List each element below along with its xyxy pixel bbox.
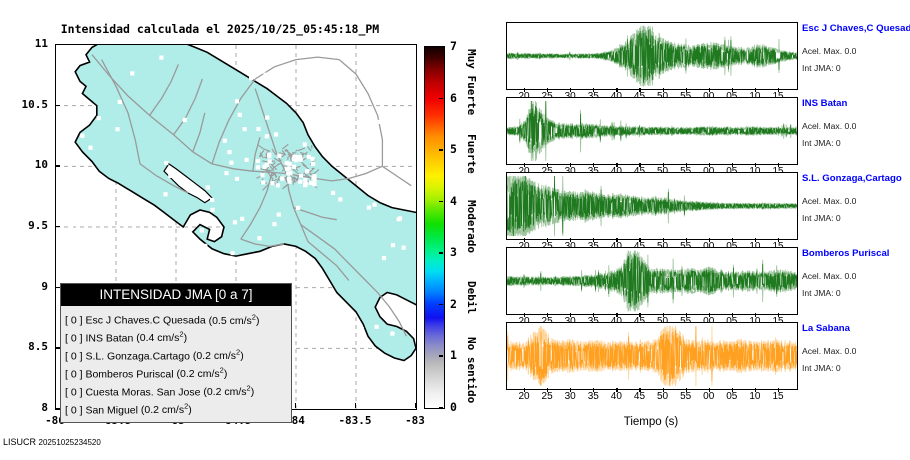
time-tick-mark <box>709 238 710 242</box>
time-tick-mark <box>732 388 733 392</box>
time-tick-mark <box>686 313 687 317</box>
station-title: Esc J Chaves,C Quesada <box>802 23 910 34</box>
legend-row: [ 0 ] S.L. Gonzaga.Cartago (0.2 cm/s2) <box>65 346 291 364</box>
time-tick-mark <box>547 313 548 317</box>
legend-intensity: [ 0 ] <box>65 368 83 380</box>
time-tick-label: 10 <box>742 391 768 402</box>
colorbar-number: 2 <box>450 297 457 311</box>
legend-accel: (0.5 cm/s2) <box>209 315 260 327</box>
legend-station-name: Cuesta Moras. San Jose <box>85 386 200 398</box>
colorbar-number: 5 <box>450 142 457 156</box>
time-tick-mark <box>524 88 525 92</box>
time-tick-mark <box>593 238 594 242</box>
lat-tick-label: 8 <box>2 401 48 414</box>
time-tick-mark <box>547 388 548 392</box>
legend-title: INTENSIDAD JMA [0 a 7] <box>61 284 291 306</box>
time-tick-mark <box>732 238 733 242</box>
station-max-accel: Acel. Max. 0.0 <box>802 46 856 56</box>
colorbar-tick <box>439 201 443 202</box>
station-jma-intensity: Int JMA: 0 <box>802 63 841 73</box>
colorbar-tick <box>439 407 443 408</box>
time-tick-mark <box>524 388 525 392</box>
station-title: Bomberos Puriscal <box>802 248 889 259</box>
time-tick-mark <box>686 238 687 242</box>
station-max-accel: Acel. Max. 0.0 <box>802 121 856 131</box>
station-jma-intensity: Int JMA: 0 <box>802 213 841 223</box>
colorbar-number: 4 <box>450 194 457 208</box>
colorbar-number: 6 <box>450 91 457 105</box>
seismogram-trace-4[interactable] <box>506 247 798 315</box>
legend-intensity: [ 0 ] <box>65 315 83 327</box>
time-tick-label: 40 <box>603 391 629 402</box>
time-tick-mark <box>778 88 779 92</box>
time-tick-mark <box>709 163 710 167</box>
time-tick-mark <box>639 163 640 167</box>
seismogram-trace-1[interactable] <box>506 22 798 90</box>
time-tick-mark <box>755 238 756 242</box>
time-tick-mark <box>732 313 733 317</box>
waveform-graphic <box>507 98 797 164</box>
lon-tick-label: -83 <box>385 414 445 427</box>
time-tick-label: 50 <box>650 391 676 402</box>
legend-intensity: [ 0 ] <box>65 404 83 416</box>
station-max-accel: Acel. Max. 0.0 <box>802 346 856 356</box>
colorbar-tick <box>439 304 443 305</box>
time-tick-mark <box>709 388 710 392</box>
time-tick-mark <box>639 88 640 92</box>
lon-tick-mark <box>415 403 416 408</box>
station-title: INS Batan <box>802 98 847 109</box>
time-tick-mark <box>570 88 571 92</box>
time-tick-mark <box>663 238 664 242</box>
colorbar-number: 1 <box>450 348 457 362</box>
time-tick-mark <box>639 313 640 317</box>
time-tick-mark <box>570 238 571 242</box>
time-tick-mark <box>593 163 594 167</box>
waveform-graphic <box>507 173 797 239</box>
legend-station-name: Esc J Chaves.C Quesada <box>85 315 205 327</box>
colorbar-tick <box>439 252 443 253</box>
time-tick-label: 00 <box>696 391 722 402</box>
lon-tick-label: -83.5 <box>325 414 385 427</box>
lat-tick-mark <box>55 44 60 45</box>
time-tick-mark <box>663 313 664 317</box>
intensity-legend: INTENSIDAD JMA [0 a 7] [ 0 ] Esc J Chave… <box>60 283 292 423</box>
station-title: S.L. Gonzaga,Cartago <box>802 173 902 184</box>
time-tick-mark <box>524 163 525 167</box>
time-tick-label: 30 <box>557 391 583 402</box>
time-tick-mark <box>686 388 687 392</box>
lat-tick-label: 10.5 <box>2 98 48 111</box>
lat-tick-mark <box>55 226 60 227</box>
lon-tick-mark <box>355 403 356 408</box>
station-jma-intensity: Int JMA: 0 <box>802 138 841 148</box>
station-jma-intensity: Int JMA: 0 <box>802 363 841 373</box>
colorbar-number: 7 <box>450 39 457 53</box>
time-tick-mark <box>755 388 756 392</box>
legend-station-name: San Miguel <box>85 404 138 416</box>
legend-accel: (0.2 cm/s2) <box>176 368 227 380</box>
station-max-accel: Acel. Max. 0.0 <box>802 196 856 206</box>
legend-row: [ 0 ] Bomberos Puriscal (0.2 cm/s2) <box>65 364 291 382</box>
time-tick-mark <box>778 388 779 392</box>
legend-row: [ 0 ] Esc J Chaves.C Quesada (0.5 cm/s2) <box>65 310 291 328</box>
time-tick-mark <box>547 238 548 242</box>
colorbar-tick <box>439 355 443 356</box>
time-tick-mark <box>593 313 594 317</box>
colorbar-category: No sentido <box>465 334 478 407</box>
legend-station-name: S.L. Gonzaga.Cartago <box>85 350 189 362</box>
station-title: La Sabana <box>802 323 850 334</box>
time-tick-mark <box>616 88 617 92</box>
station-jma-intensity: Int JMA: 0 <box>802 288 841 298</box>
time-tick-mark <box>616 163 617 167</box>
legend-station-name: Bomberos Puriscal <box>85 368 173 380</box>
time-tick-mark <box>524 313 525 317</box>
time-tick-mark <box>778 238 779 242</box>
waveform-graphic <box>507 323 797 389</box>
time-tick-mark <box>778 163 779 167</box>
time-tick-mark <box>778 313 779 317</box>
legend-row: [ 0 ] San Miguel (0.2 cm/s2) <box>65 400 291 418</box>
time-tick-mark <box>616 238 617 242</box>
time-axis-title: Tiempo (s) <box>506 416 796 428</box>
seismogram-trace-3[interactable] <box>506 172 798 240</box>
time-tick-mark <box>732 163 733 167</box>
time-tick-mark <box>570 163 571 167</box>
time-tick-mark <box>570 313 571 317</box>
lat-tick-label: 9.5 <box>2 219 48 232</box>
time-tick-label: 05 <box>719 391 745 402</box>
time-tick-mark <box>570 388 571 392</box>
time-tick-mark <box>593 88 594 92</box>
legend-intensity: [ 0 ] <box>65 386 83 398</box>
legend-intensity: [ 0 ] <box>65 332 83 344</box>
colorbar-tick <box>439 149 443 150</box>
lon-tick-mark <box>295 403 296 408</box>
colorbar-tick <box>439 98 443 99</box>
colorbar-category: Moderado <box>465 190 478 262</box>
time-tick-mark <box>524 238 525 242</box>
footer-code: 20251025234520 <box>39 438 101 447</box>
footer-label: LISUCR <box>3 437 36 447</box>
legend-intensity: [ 0 ] <box>65 350 83 362</box>
time-tick-mark <box>639 238 640 242</box>
time-tick-mark <box>755 163 756 167</box>
legend-row: [ 0 ] INS Batan (0.4 cm/s2) <box>65 328 291 346</box>
footer: LISUCR 20251025234520 <box>3 437 101 447</box>
legend-station-list: [ 0 ] Esc J Chaves.C Quesada (0.5 cm/s2)… <box>61 306 291 422</box>
station-max-accel: Acel. Max. 0.0 <box>802 271 856 281</box>
time-tick-mark <box>686 88 687 92</box>
lat-tick-mark <box>55 165 60 166</box>
legend-accel: (0.4 cm/s2) <box>136 332 187 344</box>
legend-accel: (0.2 cm/s2) <box>203 386 254 398</box>
time-tick-mark <box>663 88 664 92</box>
time-tick-mark <box>547 88 548 92</box>
time-tick-mark <box>709 88 710 92</box>
seismogram-trace-2[interactable] <box>506 97 798 165</box>
legend-station-name: INS Batan <box>85 332 133 344</box>
lat-tick-label: 10 <box>2 158 48 171</box>
time-tick-mark <box>547 163 548 167</box>
map-title: Intensidad calculada el 2025/10/25_05:45… <box>0 22 440 36</box>
legend-accel: (0.2 cm/s2) <box>141 404 192 416</box>
lat-tick-label: 8.5 <box>2 340 48 353</box>
time-tick-label: 35 <box>580 391 606 402</box>
time-tick-label: 55 <box>673 391 699 402</box>
seismogram-trace-5[interactable] <box>506 322 798 390</box>
time-tick-mark <box>732 88 733 92</box>
time-tick-mark <box>686 163 687 167</box>
lon-tick-mark <box>55 403 56 408</box>
colorbar-number: 3 <box>450 245 457 259</box>
lat-tick-label: 11 <box>2 37 48 50</box>
time-tick-mark <box>755 88 756 92</box>
colorbar-category: Fuerte <box>465 118 478 190</box>
lat-tick-mark <box>55 105 60 106</box>
legend-row: [ 0 ] Cuesta Moras. San Jose (0.2 cm/s2) <box>65 382 291 400</box>
time-tick-mark <box>755 313 756 317</box>
time-tick-mark <box>639 388 640 392</box>
time-tick-mark <box>709 313 710 317</box>
legend-accel: (0.2 cm/s2) <box>193 350 244 362</box>
waveform-graphic <box>507 23 797 89</box>
time-tick-mark <box>663 388 664 392</box>
waveform-graphic <box>507 248 797 314</box>
colorbar-category: Muy Fuerte <box>465 46 478 118</box>
time-tick-label: 25 <box>534 391 560 402</box>
time-tick-mark <box>616 313 617 317</box>
time-tick-mark <box>663 163 664 167</box>
lat-tick-label: 9 <box>2 280 48 293</box>
time-tick-label: 15 <box>765 391 791 402</box>
time-tick-mark <box>616 388 617 392</box>
colorbar-number: 0 <box>450 400 457 414</box>
time-tick-mark <box>593 388 594 392</box>
colorbar-category: Debil <box>465 262 478 334</box>
